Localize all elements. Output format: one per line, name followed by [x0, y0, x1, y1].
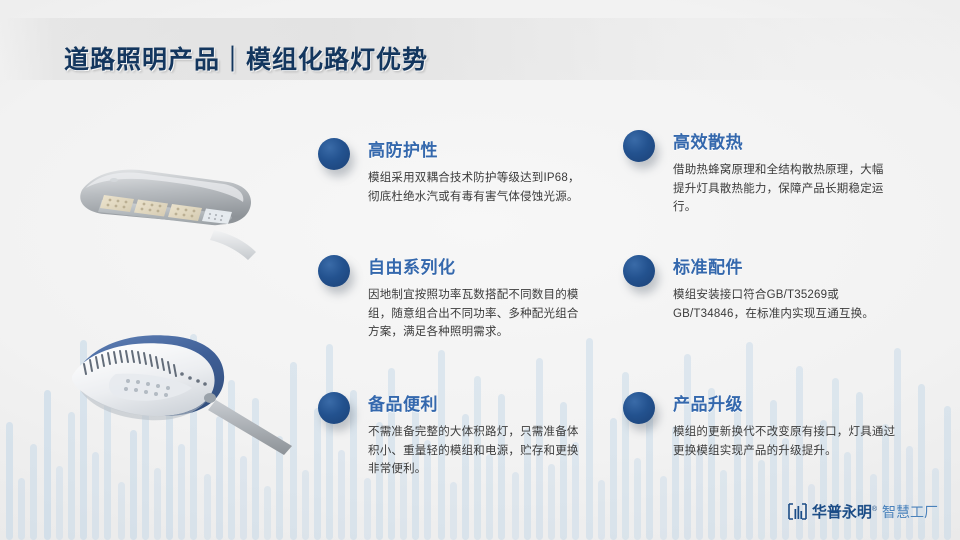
decorative-bar: [758, 460, 765, 540]
logo-sub-name: 智慧工厂: [882, 502, 938, 522]
bracket-logo-icon: [788, 503, 807, 520]
decorative-bar: [696, 448, 703, 540]
feature-heading: 备品便利: [368, 390, 590, 415]
brand-logo[interactable]: 华普永明® 智慧工厂: [788, 501, 938, 522]
decorative-bar: [720, 470, 727, 540]
decorative-bar: [364, 478, 371, 540]
logo-brand-name: 华普永明®: [812, 501, 877, 522]
feature-body: 模组的更新换代不改变原有接口，灯具通过更换模组实现产品的升级提升。: [673, 423, 901, 460]
bullet-dot-icon: [318, 138, 350, 170]
decorative-bar: [906, 446, 913, 540]
decorative-bar: [944, 406, 951, 540]
decorative-bar: [6, 422, 13, 540]
decorative-bar: [326, 344, 333, 540]
feature-body: 因地制宜按照功率瓦数搭配不同数目的模组，随意组合出不同功率、多种配光组合方案，满…: [368, 286, 583, 342]
decorative-bar: [264, 486, 271, 540]
feature-heading: 高防护性: [368, 136, 583, 161]
decorative-bar: [598, 480, 605, 540]
decorative-bar: [56, 466, 63, 540]
feature-body: 模组采用双耦合技术防护等级达到IP68，彻底杜绝水汽或有毒有害气体侵蚀光源。: [368, 169, 583, 206]
bullet-dot-icon: [318, 255, 350, 287]
decorative-bar: [660, 476, 667, 540]
decorative-bar: [118, 482, 125, 540]
slide-root: 道路照明产品｜模组化路灯优势: [0, 0, 960, 540]
bullet-dot-icon: [623, 130, 655, 162]
decorative-bar: [338, 450, 345, 540]
decorative-bar: [240, 456, 247, 540]
registered-mark: ®: [872, 506, 877, 513]
feature-body: 模组安装接口符合GB/T35269或GB/T34846，在标准内实现互通互换。: [673, 286, 903, 323]
feature-body: 不需准备完整的大体积路灯，只需准备体积小、重量轻的模组和电源，贮存和更换非常便利…: [368, 423, 590, 479]
bullet-dot-icon: [623, 392, 655, 424]
decorative-bar: [512, 472, 519, 540]
decorative-bar: [450, 482, 457, 540]
decorative-bar: [302, 470, 309, 540]
decorative-bar: [314, 408, 321, 540]
bullet-dot-icon: [623, 255, 655, 287]
feature-heading: 产品升级: [673, 390, 901, 415]
feature-heading: 标准配件: [673, 253, 903, 278]
page-title: 道路照明产品｜模组化路灯优势: [64, 40, 428, 76]
grey-led-street-lamp-image: [42, 150, 292, 270]
feature-heading: 自由系列化: [368, 253, 583, 278]
feature-heading: 高效散热: [673, 128, 895, 153]
decorative-bar: [18, 478, 25, 540]
decorative-bar: [204, 474, 211, 540]
decorative-bar: [92, 452, 99, 540]
decorative-bar: [154, 468, 161, 540]
decorative-bar: [634, 458, 641, 540]
decorative-bar: [30, 444, 37, 540]
decorative-bar: [350, 390, 357, 540]
feature-body: 借助热蜂窝原理和全结构散热原理，大幅提升灯具散热能力，保障产品长期稳定运行。: [673, 161, 895, 217]
decorative-bar: [610, 418, 617, 540]
blue-white-street-lamp-image: [20, 318, 300, 458]
decorative-bar: [844, 452, 851, 540]
bullet-dot-icon: [318, 392, 350, 424]
decorative-bar: [178, 444, 185, 540]
